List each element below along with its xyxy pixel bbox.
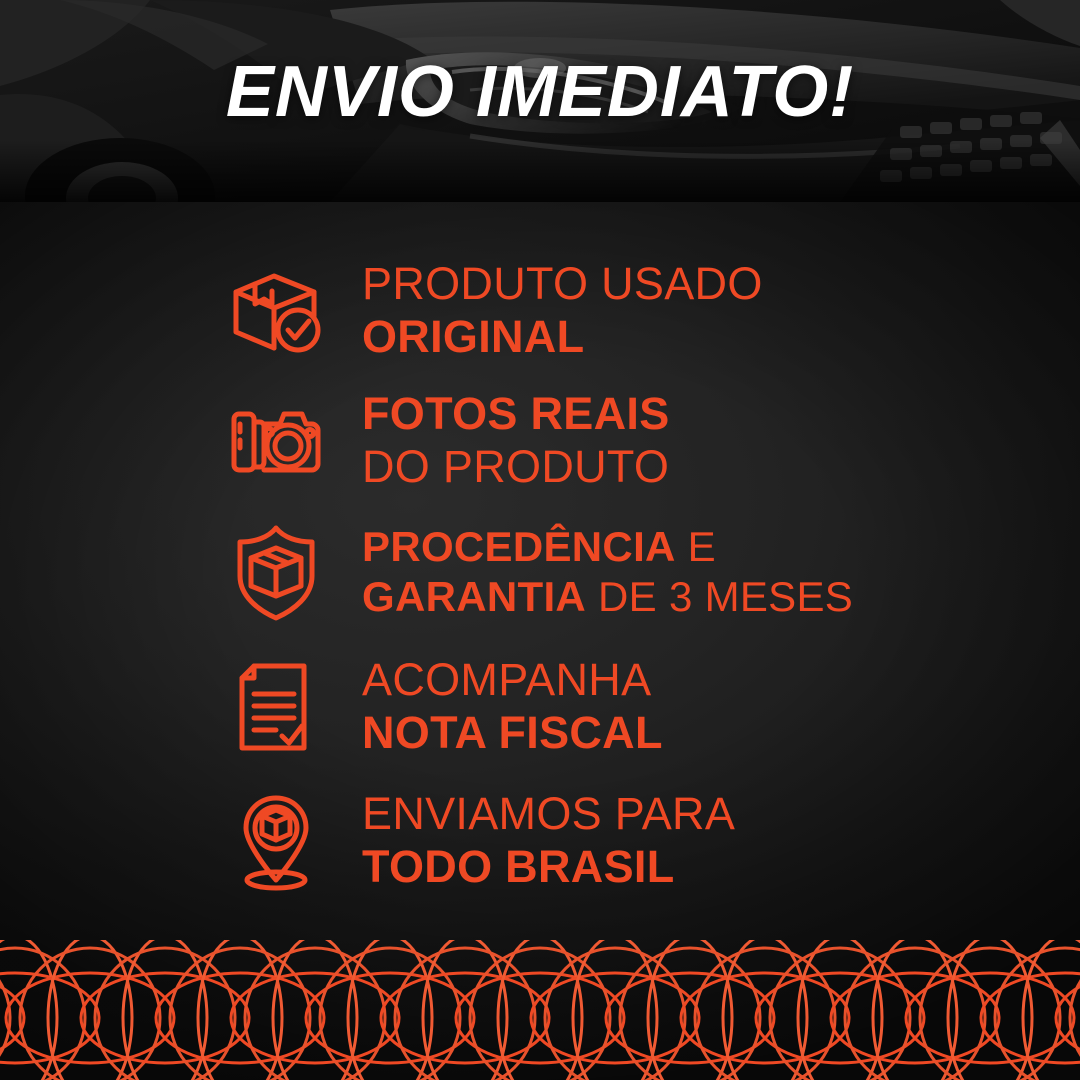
feature-line-1: PRODUTO USADO: [362, 261, 763, 306]
feature-line-2: TODO BRASIL: [362, 844, 735, 889]
location-pin-box-icon: [224, 788, 328, 892]
feature-text: PRODUTO USADO ORIGINAL: [362, 261, 763, 359]
feature-line-2: ORIGINAL: [362, 314, 763, 359]
feature-line-2: NOTA FISCAL: [362, 710, 663, 755]
feature-text: FOTOS REAIS DO PRODUTO: [362, 391, 670, 489]
package-box-check-icon: [224, 258, 328, 362]
promo-banner-page: ENVIO IMEDIATO!: [0, 0, 1080, 1080]
feature-item-todo-brasil: ENVIAMOS PARA TODO BRASIL: [224, 788, 735, 892]
feature-line-1: FOTOS REAIS: [362, 391, 670, 436]
feature-line-2-suffix: DE 3 MESES: [586, 573, 853, 620]
header-banner: ENVIO IMEDIATO!: [0, 0, 1080, 202]
feature-text: ENVIAMOS PARA TODO BRASIL: [362, 791, 735, 889]
feature-text: PROCEDÊNCIA E GARANTIA DE 3 MESES: [362, 526, 853, 618]
invoice-document-check-icon: [224, 654, 328, 758]
bottom-ornament: [0, 940, 1080, 1080]
feature-line-2: GARANTIA DE 3 MESES: [362, 576, 853, 618]
feature-line-2-strong: GARANTIA: [362, 573, 586, 620]
feature-line-1-suffix: E: [676, 523, 716, 570]
feature-line-1: ENVIAMOS PARA: [362, 791, 735, 836]
feature-item-procedencia-garantia: PROCEDÊNCIA E GARANTIA DE 3 MESES: [224, 520, 853, 624]
feature-line-1: ACOMPANHA: [362, 657, 663, 702]
shield-box-icon: [224, 520, 328, 624]
overlapping-ellipse-lattice-border: [0, 940, 1080, 1080]
feature-item-nota-fiscal: ACOMPANHA NOTA FISCAL: [224, 654, 663, 758]
feature-line-1-strong: PROCEDÊNCIA: [362, 523, 676, 570]
feature-text: ACOMPANHA NOTA FISCAL: [362, 657, 663, 755]
page-title: ENVIO IMEDIATO!: [0, 56, 1080, 128]
feature-item-fotos-reais: FOTOS REAIS DO PRODUTO: [224, 388, 670, 492]
camera-icon: [224, 388, 328, 492]
feature-item-produto-usado-original: PRODUTO USADO ORIGINAL: [224, 258, 763, 362]
feature-line-2: DO PRODUTO: [362, 444, 670, 489]
feature-line-1: PROCEDÊNCIA E: [362, 526, 853, 568]
